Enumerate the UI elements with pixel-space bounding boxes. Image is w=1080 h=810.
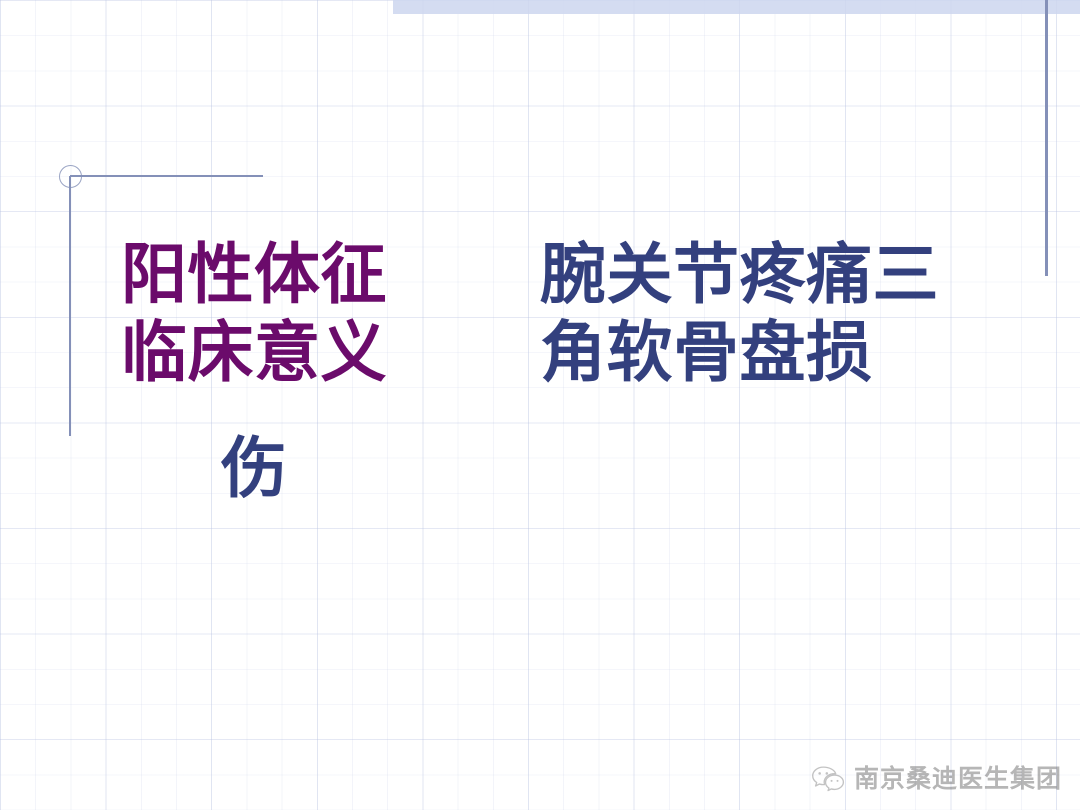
watermark: 南京桑迪医生集团 — [811, 764, 1062, 792]
wechat-icon — [811, 764, 845, 792]
slide-canvas: 阳性体征临床意义 腕关节疼痛三角软骨盘损 伤 南京桑迪医生集团 — [0, 0, 1080, 810]
right-column-heading: 腕关节疼痛三角软骨盘损 — [540, 236, 990, 392]
watermark-text: 南京桑迪医生集团 — [854, 766, 1062, 791]
right-column-overflow-character: 伤 — [104, 430, 404, 508]
slide-content: 阳性体征临床意义 腕关节疼痛三角软骨盘损 伤 — [0, 0, 1080, 810]
left-column-heading: 阳性体征临床意义 — [104, 236, 404, 392]
